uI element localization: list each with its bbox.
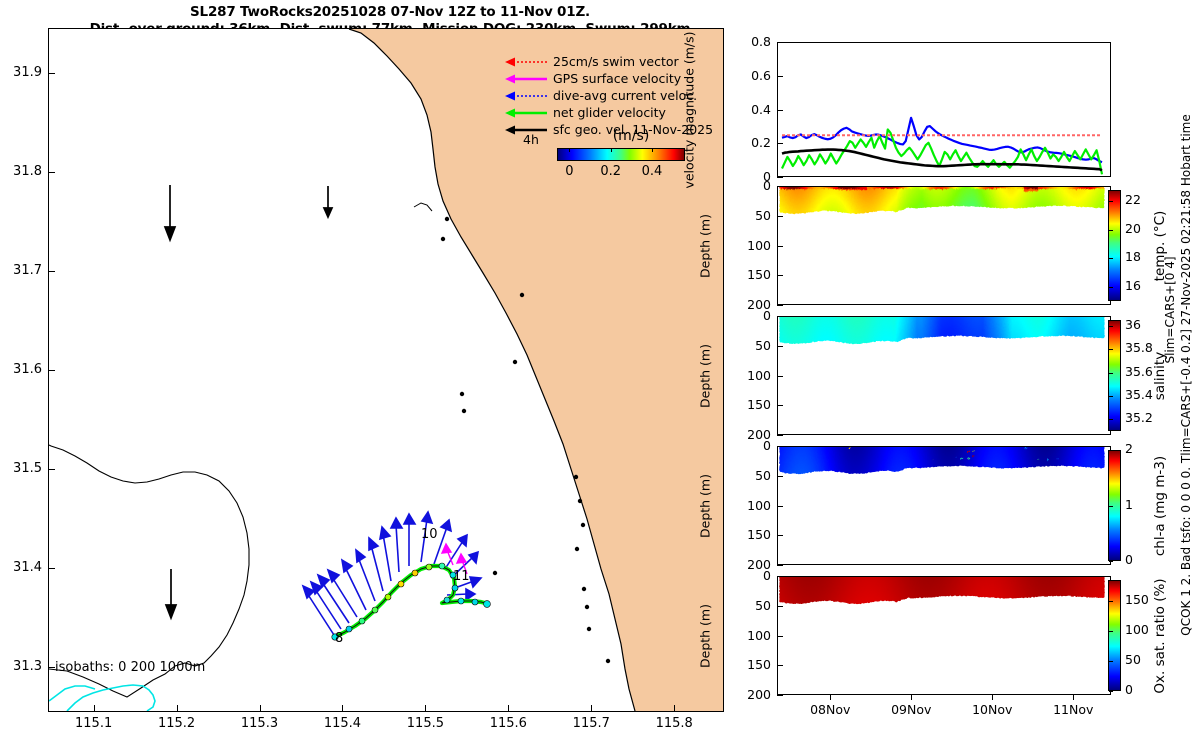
ytick-label: 150 — [727, 267, 771, 282]
panel-salinity-section[interactable] — [777, 316, 1111, 435]
legend-colorbar-tick-label: 0.4 — [642, 164, 663, 179]
map-ytick-label: 31.5 — [0, 461, 42, 476]
isobath-0m — [49, 686, 95, 701]
colorbar-tick-label: 20 — [1125, 221, 1141, 236]
colorbar-tick-label: 1 — [1125, 497, 1133, 512]
map-xtick-mark — [591, 705, 592, 712]
legend-colorbar-tick-label: 0 — [565, 164, 573, 179]
figure-root: SL287 TwoRocks20251028 07-Nov 12Z to 11-… — [0, 0, 1200, 750]
xtick-mark — [1073, 694, 1074, 700]
axis-label-oxygen-saturation-section: Depth (m) — [698, 604, 713, 668]
colorbar-salinity-section — [1108, 320, 1121, 431]
xtick-label: 08Nov — [810, 702, 850, 717]
ytick-mark — [777, 275, 783, 276]
xtick-label: 11Nov — [1053, 702, 1093, 717]
colorbar-tick-label: 16 — [1125, 278, 1141, 293]
ytick-mark — [777, 476, 783, 477]
colorbar-tick-mark — [1109, 506, 1113, 507]
ytick-label: 100 — [727, 368, 771, 383]
map-ytick-label: 31.8 — [0, 164, 42, 179]
ytick-mark — [777, 76, 783, 77]
track-label-10: 10 — [421, 527, 438, 542]
map-ytick-label: 31.3 — [0, 659, 42, 674]
xtick-mark — [911, 694, 912, 700]
isobaths-note: isobaths: 0 200 1000m — [55, 660, 205, 675]
colorbar-tick-mark — [1109, 631, 1113, 632]
legend-item-3: net glider velocity — [505, 104, 705, 121]
map-legend: 25cm/s swim vectorGPS surface velocitydi… — [505, 53, 705, 138]
colorbar-tick-mark — [1109, 373, 1113, 374]
ytick-mark — [777, 186, 783, 187]
ytick-mark — [777, 42, 783, 43]
xtick-label: 09Nov — [891, 702, 931, 717]
map-ytick-mark — [48, 568, 55, 569]
ytick-mark — [777, 177, 783, 178]
colorbar-tick-mark — [1109, 450, 1113, 451]
legend-colorbar-gradient — [557, 148, 685, 161]
ytick-label: 50 — [727, 598, 771, 613]
colorbar-tick-mark — [1109, 201, 1113, 202]
ytick-mark — [777, 316, 783, 317]
left-arrow-icon — [505, 89, 549, 103]
legend-colorbar-tick-mark — [569, 148, 570, 152]
ytick-label: 150 — [727, 397, 771, 412]
colorbar-tick-label: 35.4 — [1125, 387, 1153, 402]
ytick-label: 0 — [727, 178, 771, 193]
map-xtick-label: 115.1 — [75, 716, 112, 731]
ytick-mark — [777, 143, 783, 144]
colorbar-tick-mark — [1109, 419, 1113, 420]
title-line-1: SL287 TwoRocks20251028 07-Nov 12Z to 11-… — [60, 4, 720, 21]
map-ytick-label: 31.6 — [0, 362, 42, 377]
left-arrow-icon — [505, 72, 549, 86]
colorbar-tick-mark — [1109, 561, 1113, 562]
legend-item-label: net glider velocity — [553, 106, 666, 120]
ytick-label: 0.6 — [727, 68, 771, 83]
legend-colorbar-tick-mark — [611, 148, 612, 152]
axis-label-velocity-magnitude: velocity magnitude (m/s) — [682, 31, 697, 188]
ytick-mark — [777, 606, 783, 607]
map-xtick-mark — [177, 705, 178, 712]
velocity-series-graphics — [778, 43, 1110, 176]
colorbar-tick-mark — [1109, 661, 1113, 662]
colorbar-tick-label: 22 — [1125, 192, 1141, 207]
ytick-label: 100 — [727, 238, 771, 253]
map-xtick-label: 115.2 — [158, 716, 195, 731]
colorbar-oxygen-saturation-section — [1108, 580, 1121, 691]
legend-item-0: 25cm/s swim vector — [505, 53, 705, 70]
map-xtick-label: 115.8 — [656, 716, 693, 731]
colorbar-tick-mark — [1109, 230, 1113, 231]
track-label-8: 8 — [335, 631, 343, 646]
ytick-mark — [777, 305, 783, 306]
ytick-label: 0.8 — [727, 34, 771, 49]
ytick-label: 50 — [727, 468, 771, 483]
colorbar-tick-label: 35.6 — [1125, 364, 1153, 379]
legend-item-2: dive-avg current veloc. — [505, 87, 705, 104]
ytick-label: 100 — [727, 628, 771, 643]
coastline-inlet — [414, 203, 432, 211]
map-xtick-label: 115.5 — [407, 716, 444, 731]
ytick-mark — [777, 665, 783, 666]
legend-colorbar: 00.20.4 — [557, 148, 685, 161]
axis-label-temperature-section: Depth (m) — [698, 214, 713, 278]
colorbar-tick-label: 2 — [1125, 441, 1133, 456]
colorbar-tick-mark — [1109, 258, 1113, 259]
colorbar-tick-label: 50 — [1125, 652, 1141, 667]
xtick-mark — [992, 694, 993, 700]
map-ytick-mark — [48, 370, 55, 371]
map-ytick-mark — [48, 667, 55, 668]
ytick-label: 200 — [727, 687, 771, 702]
ytick-label: 150 — [727, 657, 771, 672]
legend-item-label: GPS surface velocity — [553, 72, 681, 86]
colorbar-tick-label: 35.2 — [1125, 410, 1153, 425]
ytick-label: 100 — [727, 498, 771, 513]
map-xtick-mark — [508, 705, 509, 712]
left-arrow-icon — [505, 55, 549, 69]
legend-item-1: GPS surface velocity — [505, 70, 705, 87]
map-xtick-label: 115.3 — [241, 716, 278, 731]
colorbar-tick-mark — [1109, 287, 1113, 288]
ytick-mark — [777, 376, 783, 377]
map-ytick-mark — [48, 73, 55, 74]
colorbar-tick-mark — [1109, 691, 1113, 692]
colorbar-tick-label: 100 — [1125, 622, 1149, 637]
map-xtick-label: 115.7 — [573, 716, 610, 731]
panel-oxygen-saturation-section[interactable] — [777, 576, 1111, 695]
ytick-mark — [777, 346, 783, 347]
legend-colorbar-tick-mark — [652, 148, 653, 152]
oxygen-saturation-section-graphics — [778, 577, 1110, 694]
map-xtick-label: 115.4 — [324, 716, 361, 731]
ytick-label: 50 — [727, 338, 771, 353]
legend-colorbar-tick-label: 0.2 — [600, 164, 621, 179]
map-ytick-mark — [48, 469, 55, 470]
geostrophic-velocity-arrows — [165, 185, 332, 711]
map-ytick-label: 31.7 — [0, 263, 42, 278]
track-label-11: 11 — [453, 569, 470, 584]
ytick-mark — [777, 405, 783, 406]
ytick-mark — [777, 695, 783, 696]
colorbar-tick-label: 150 — [1125, 592, 1149, 607]
ytick-mark — [777, 435, 783, 436]
isobath-1000m — [67, 685, 155, 711]
ytick-mark — [777, 636, 783, 637]
colorbar-tick-label: 36 — [1125, 317, 1141, 332]
ytick-mark — [777, 506, 783, 507]
temperature-section-graphics — [778, 187, 1110, 304]
map-xtick-label: 115.6 — [490, 716, 527, 731]
ytick-mark — [777, 246, 783, 247]
left-arrow-icon — [505, 106, 549, 120]
axis-label-chlorophyll-section: Depth (m) — [698, 474, 713, 538]
legend-item-label: 25cm/s swim vector — [553, 55, 679, 69]
colorbar-title-chlorophyll-section: chl-a (mg m-3) — [1152, 455, 1168, 555]
ytick-mark — [777, 576, 783, 577]
ytick-label: 0 — [727, 308, 771, 323]
panel-temperature-section[interactable] — [777, 186, 1111, 305]
xtick-mark — [830, 694, 831, 700]
ytick-label: 50 — [727, 208, 771, 223]
map-xtick-mark — [425, 705, 426, 712]
map-xtick-mark — [260, 705, 261, 712]
salinity-section-graphics — [778, 317, 1110, 434]
panel-chlorophyll-section[interactable] — [777, 446, 1111, 565]
legend-scale-label: 4h — [523, 132, 539, 147]
colorbar-tick-label: 0 — [1125, 552, 1133, 567]
colorbar-tick-mark — [1109, 349, 1113, 350]
map-ytick-label: 31.9 — [0, 65, 42, 80]
footer-note-line-b: Slim=CARS+[0 4] — [1163, 256, 1177, 363]
map-xtick-mark — [94, 705, 95, 712]
colorbar-tick-label: 0 — [1125, 682, 1133, 697]
colorbar-title-oxygen-saturation-section: Ox. sat. ratio (%) — [1152, 578, 1168, 693]
map-ytick-label: 31.4 — [0, 560, 42, 575]
ytick-label: 150 — [727, 527, 771, 542]
legend-item-label: dive-avg current veloc. — [553, 89, 697, 103]
map-ytick-mark — [48, 271, 55, 272]
ytick-label: 0 — [727, 568, 771, 583]
colorbar-tick-label: 18 — [1125, 249, 1141, 264]
ytick-label: 0.2 — [727, 135, 771, 150]
colorbar-tick-mark — [1109, 396, 1113, 397]
colorbar-temperature-section — [1108, 190, 1121, 301]
ytick-mark — [777, 565, 783, 566]
map-xtick-mark — [342, 705, 343, 712]
ytick-mark — [777, 110, 783, 111]
ytick-mark — [777, 446, 783, 447]
colorbar-tick-mark — [1109, 326, 1113, 327]
colorbar-tick-mark — [1109, 601, 1113, 602]
xtick-label: 10Nov — [972, 702, 1012, 717]
chlorophyll-section-graphics — [778, 447, 1110, 564]
colorbar-tick-label: 35.8 — [1125, 340, 1153, 355]
map-ytick-mark — [48, 172, 55, 173]
footer-note-line-a: QCOK 1 2. Bad tsfo: 0 0 0 0. Tlim=CARS+[… — [1179, 114, 1193, 636]
ytick-label: 0 — [727, 438, 771, 453]
ytick-mark — [777, 535, 783, 536]
map-xtick-mark — [674, 705, 675, 712]
ytick-label: 0.4 — [727, 102, 771, 117]
ytick-mark — [777, 216, 783, 217]
panel-velocity-magnitude[interactable] — [777, 42, 1111, 177]
axis-label-salinity-section: Depth (m) — [698, 344, 713, 408]
